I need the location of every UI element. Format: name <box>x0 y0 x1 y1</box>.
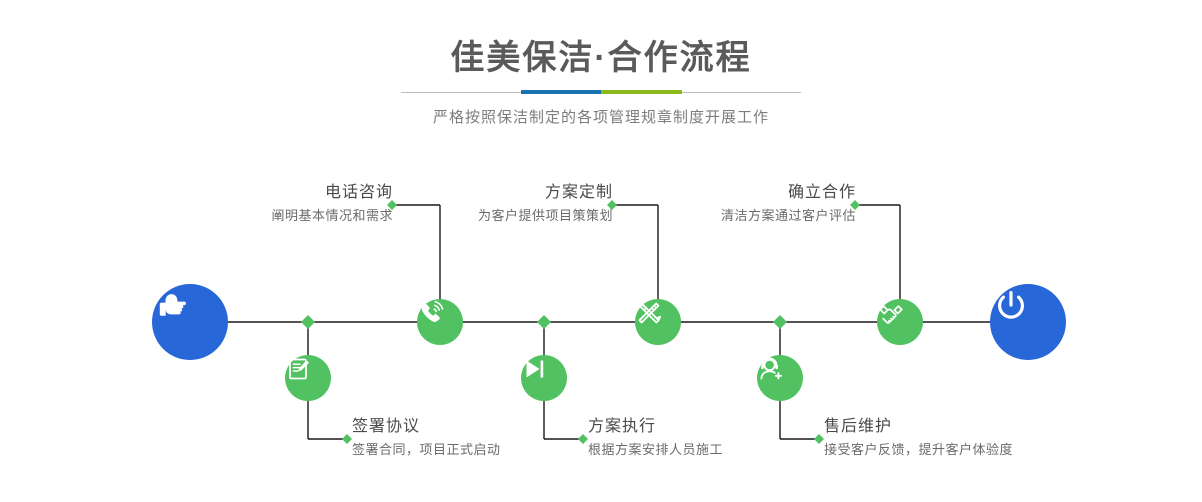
step-title-5: 确立合作 <box>555 182 856 204</box>
diamond-label-step-2 <box>342 434 352 444</box>
handshake-icon <box>877 299 905 327</box>
page-header: 佳美保洁·合作流程 严格按照保洁制定的各项管理规章制度开展工作 <box>0 0 1202 129</box>
power-icon <box>990 284 1032 326</box>
step-node-icon-3[interactable] <box>635 299 681 345</box>
step-node-icon-1[interactable] <box>417 299 463 345</box>
step-node-icon-4[interactable] <box>521 355 567 401</box>
step-title-2: 签署协议 <box>352 416 501 438</box>
pointing-hand-icon <box>152 284 194 326</box>
divider-segment-blue <box>521 90 601 94</box>
document-sign-icon <box>285 355 313 383</box>
step-desc-6: 接受客户反馈，提升客户体验度 <box>824 438 1013 460</box>
step-title-6: 售后维护 <box>824 416 1013 438</box>
diamond-marker-step-6 <box>773 315 787 329</box>
step-node-icon-5[interactable] <box>877 299 923 345</box>
step-desc-2: 签署合同，项目正式启动 <box>352 438 501 460</box>
step-desc-4: 根据方案安排人员施工 <box>588 438 723 460</box>
pencil-ruler-icon <box>635 299 663 327</box>
diamond-label-step-6 <box>814 434 824 444</box>
step-label-6: 售后维护 接受客户反馈，提升客户体验度 <box>824 416 1013 460</box>
step-node-icon-2[interactable] <box>285 355 331 401</box>
phone-call-icon <box>417 299 445 327</box>
step-label-5: 确立合作 清洁方案通过客户评估 <box>555 182 856 226</box>
flow-end-node[interactable] <box>990 284 1066 360</box>
divider-segment-green <box>601 90 682 94</box>
play-next-icon <box>521 355 549 383</box>
step-node-icon-6[interactable] <box>757 355 803 401</box>
process-flow-diagram: 电话咨询 阐明基本情况和需求 方案定制 为客户提供项目策策划 <box>0 150 1202 502</box>
title-divider <box>401 88 801 98</box>
step-desc-5: 清洁方案通过客户评估 <box>555 204 856 226</box>
diamond-marker-step-2 <box>301 315 315 329</box>
flow-start-node[interactable] <box>152 284 228 360</box>
page-subtitle: 严格按照保洁制定的各项管理规章制度开展工作 <box>0 98 1202 129</box>
step-title-4: 方案执行 <box>588 416 723 438</box>
page-title: 佳美保洁·合作流程 <box>0 0 1202 80</box>
customer-service-add-icon <box>757 355 785 383</box>
step-label-4: 方案执行 根据方案安排人员施工 <box>588 416 723 460</box>
diamond-marker-step-4 <box>537 315 551 329</box>
step-label-2: 签署协议 签署合同，项目正式启动 <box>352 416 501 460</box>
diamond-label-step-4 <box>578 434 588 444</box>
